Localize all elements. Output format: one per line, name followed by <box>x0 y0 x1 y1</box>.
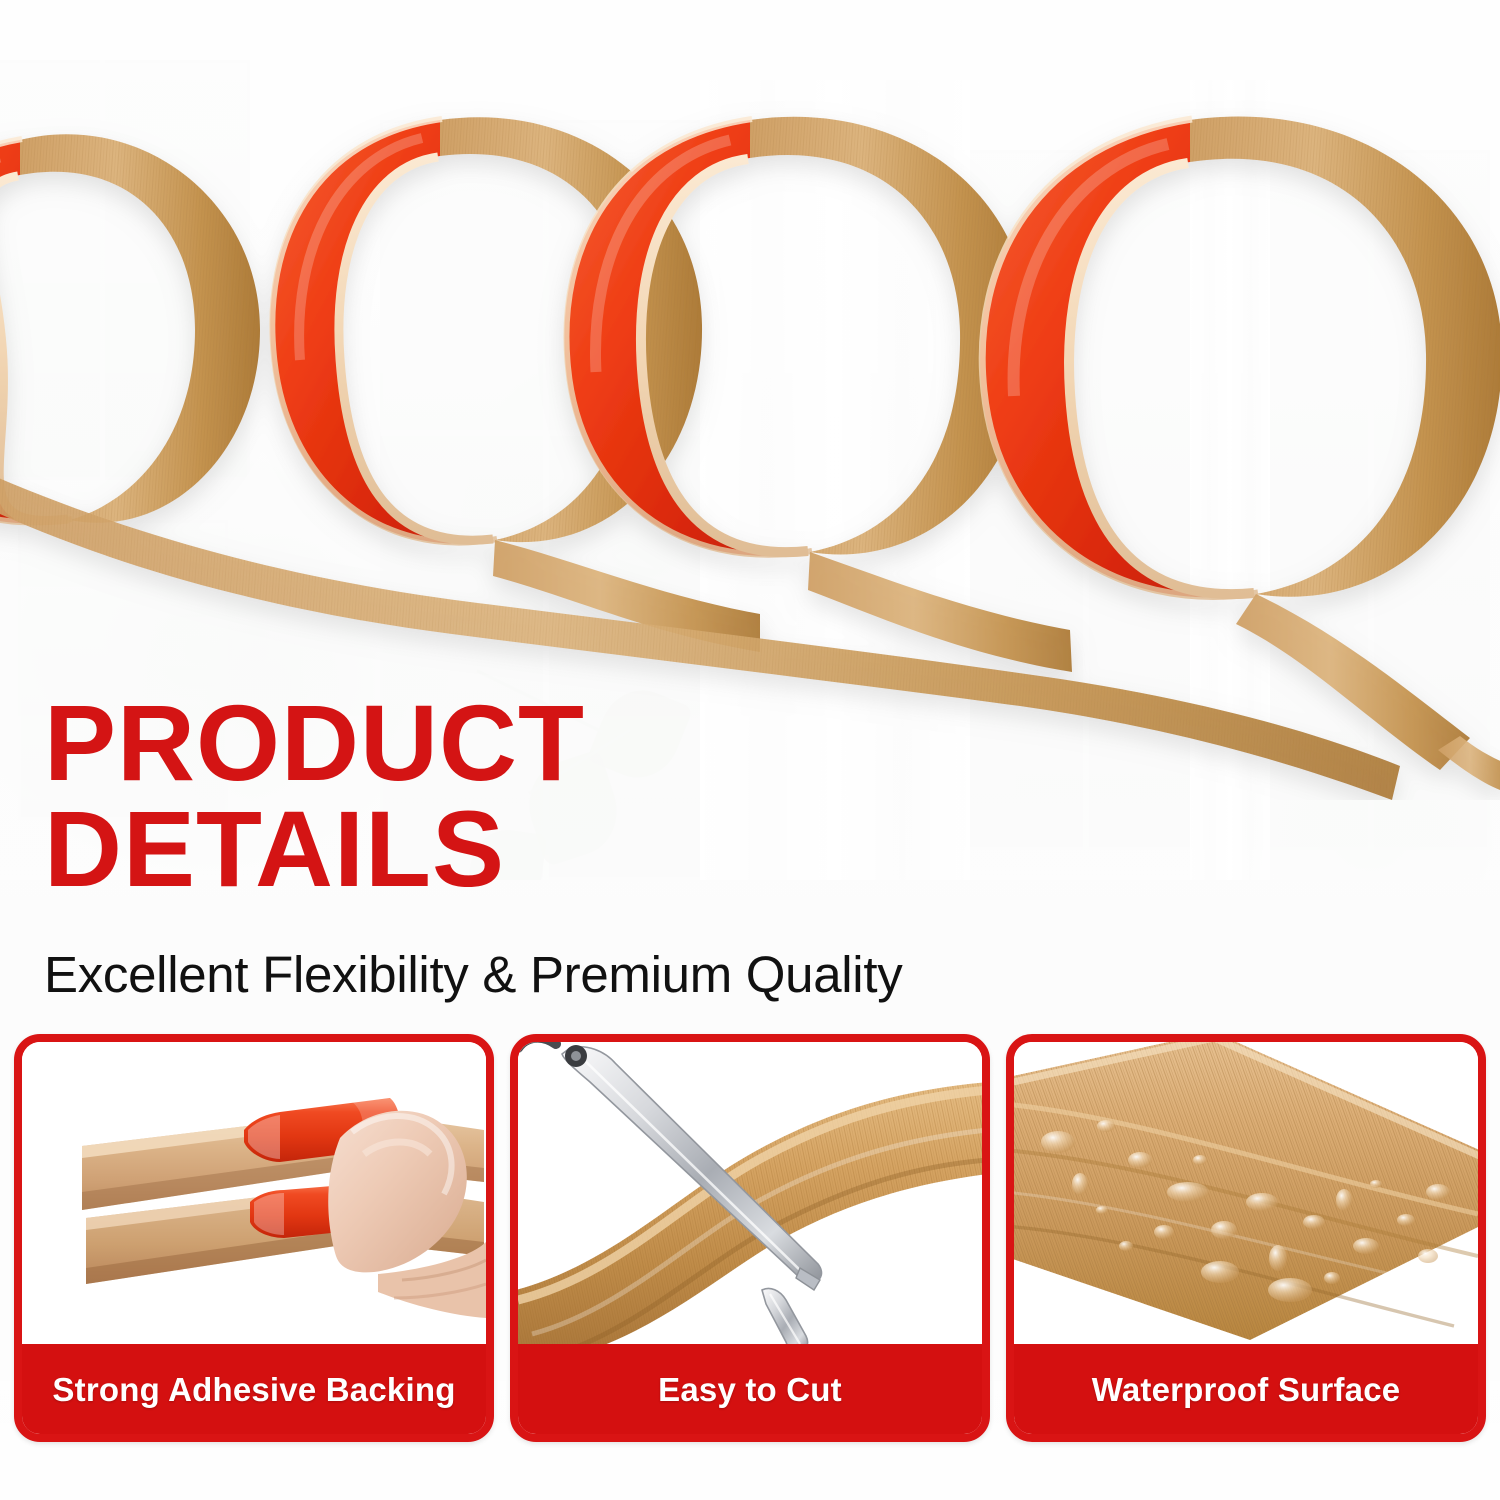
page-title: PRODUCT DETAILS <box>44 690 1044 902</box>
page-subtitle: Excellent Flexibility & Premium Quality <box>44 945 902 1004</box>
title-line-2: DETAILS <box>44 796 1044 902</box>
feature-panel-waterproof[interactable]: Waterproof Surface <box>1006 1034 1486 1442</box>
feature-panel-cut[interactable]: Easy to Cut <box>510 1034 990 1442</box>
hero-product-image <box>0 0 1500 800</box>
title-line-1: PRODUCT <box>44 682 585 803</box>
feature-panels: Strong Adhesive Backing <box>14 1034 1486 1500</box>
scissors-cut-photo <box>518 1042 982 1362</box>
feature-label-adhesive: Strong Adhesive Backing <box>20 1344 488 1436</box>
edge-banding-coils-illustration <box>0 0 1500 800</box>
coil-1 <box>0 134 260 523</box>
headline-block: PRODUCT DETAILS <box>44 690 1044 902</box>
product-details-infographic: PRODUCT DETAILS Excellent Flexibility & … <box>0 0 1500 1500</box>
feature-panel-adhesive[interactable]: Strong Adhesive Backing <box>14 1034 494 1442</box>
water-beads-photo <box>1014 1042 1478 1362</box>
adhesive-peel-photo <box>22 1042 486 1362</box>
feature-label-cut: Easy to Cut <box>516 1344 984 1436</box>
feature-label-waterproof: Waterproof Surface <box>1012 1344 1480 1436</box>
